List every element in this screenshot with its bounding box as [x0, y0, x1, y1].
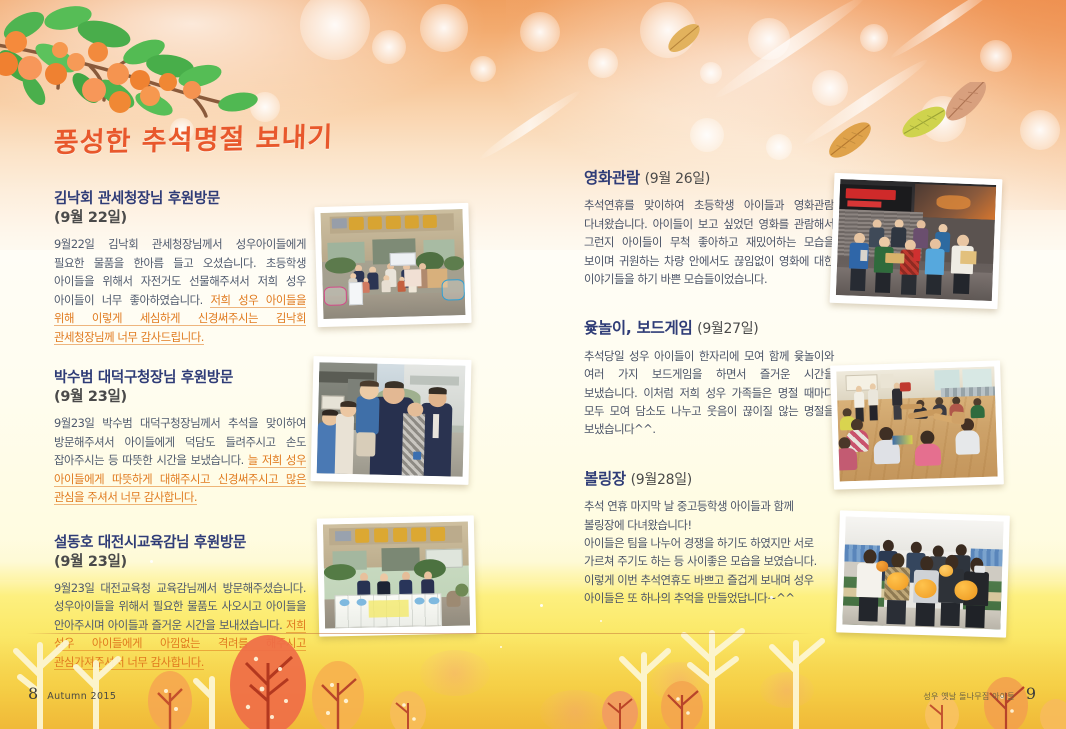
article-title: 볼링장 (9월28일)	[584, 469, 834, 490]
left-page-footer: 8 Autumn 2015	[28, 684, 116, 703]
photo-image	[836, 179, 996, 301]
article-title-text: 설동호 대전시교육감님 후원방문	[54, 535, 246, 551]
article-date: (9월 22일)	[54, 209, 306, 228]
article-title: 김낙회 관세청장님 후원방문 (9월 22일)	[54, 190, 306, 228]
sparkle	[540, 604, 543, 607]
photo-image	[323, 521, 470, 628]
article-body: 9월23일 박수범 대덕구청장님께서 추석을 맞이하여 방문해주셔서 아이들에게…	[54, 414, 306, 506]
page-title: 풍성한 추석명절 보내기	[53, 115, 334, 160]
article-title: 설동호 대전시교육감님 후원방문 (9월 23일)	[54, 534, 306, 572]
article-title: 윷놀이, 보드게임 (9월27일)	[584, 318, 834, 339]
footer-divider	[26, 633, 814, 634]
watercolor-blot	[540, 690, 610, 729]
page-number-right: 9	[1026, 684, 1036, 703]
article-body: 추석 연휴 마지막 날 중고등학생 아이들과 함께 볼링장에 다녀왔습니다! 아…	[584, 497, 834, 608]
photo-official-holding-child	[310, 356, 471, 485]
article-date: (9월 26일)	[645, 171, 710, 187]
left-article-column: 김낙회 관세청장님 후원방문 (9월 22일) 9월22일 김낙회 관세청장님께…	[54, 190, 306, 685]
article-date: (9월 23일)	[54, 553, 306, 572]
photo-image	[321, 209, 466, 319]
sparkle	[150, 560, 153, 563]
article-title-text: 영화관람	[584, 169, 640, 187]
article-kim-nak-hoe: 김낙회 관세청장님 후원방문 (9월 22일) 9월22일 김낙회 관세청장님께…	[54, 190, 306, 346]
right-article-column: 영화관람 (9월 26일) 추석연휴를 맞이하여 초등학생 아이들과 영화관람 …	[584, 168, 834, 622]
watercolor-blot	[760, 672, 814, 708]
watercolor-blot	[420, 650, 490, 696]
article-date: (9월 23일)	[54, 388, 306, 407]
article-park-soo-beom: 박수범 대덕구청장님 후원방문 (9월 23일) 9월23일 박수범 대덕구청장…	[54, 369, 306, 507]
article-yut-boardgame: 윷놀이, 보드게임 (9월27일) 추석당일 성우 아이들이 한자리에 모여 함…	[584, 318, 834, 438]
sparkle	[600, 620, 602, 622]
article-title-text: 윷놀이, 보드게임	[584, 319, 692, 337]
photo-image	[317, 362, 466, 477]
right-page-footer: 성우 옛날 돌나무집 아이들 9	[923, 684, 1036, 703]
photo-image	[842, 517, 1003, 630]
article-date: (9월27일)	[697, 321, 758, 337]
article-date: (9월28일)	[631, 472, 692, 488]
issue-label: Autumn 2015	[47, 691, 116, 702]
article-title: 박수범 대덕구청장님 후원방문 (9월 23일)	[54, 369, 306, 407]
article-seol-dong-ho: 설동호 대전시교육감님 후원방문 (9월 23일) 9월23일 대전교육청 교육…	[54, 534, 306, 672]
photo-teens-at-bowling-alley	[836, 510, 1010, 637]
watercolor-blot	[650, 662, 710, 702]
article-body: 추석당일 성우 아이들이 한자리에 모여 함께 윷놀이와 여러 가지 보드게임을…	[584, 347, 834, 439]
organization-label: 성우 옛날 돌나무집 아이들	[923, 691, 1014, 702]
article-body: 9월23일 대전교육청 교육감님께서 방문해주셨습니다. 성우아이들을 위해서 …	[54, 579, 306, 671]
sparkle	[500, 646, 502, 648]
article-body: 9월22일 김낙회 관세청장님께서 성우아이들에게 필요한 물품을 한아름 들고…	[54, 235, 306, 346]
photo-officials-with-supplies	[317, 515, 476, 636]
article-title: 영화관람 (9월 26일)	[584, 168, 834, 189]
photo-children-playing-yut	[830, 360, 1004, 489]
sparkle	[770, 596, 773, 599]
article-title-text: 볼링장	[584, 470, 626, 488]
article-title-text: 박수범 대덕구청장님 후원방문	[54, 370, 233, 386]
article-body-plain: 9월23일 대전교육청 교육감님께서 방문해주셨습니다. 성우아이들을 위해서 …	[54, 581, 306, 632]
article-bowling: 볼링장 (9월28일) 추석 연휴 마지막 날 중고등학생 아이들과 함께 볼링…	[584, 469, 834, 608]
page-number-left: 8	[28, 684, 38, 703]
photo-donation-group-bicycles	[314, 203, 471, 327]
article-movie-viewing: 영화관람 (9월 26일) 추석연휴를 맞이하여 초등학생 아이들과 영화관람 …	[584, 168, 834, 288]
article-body: 추석연휴를 맞이하여 초등학생 아이들과 영화관람 다녀왔습니다. 아이들이 보…	[584, 196, 834, 288]
photo-image	[836, 367, 997, 482]
magazine-spread: 풍성한 추석명절 보내기 김낙회 관세청장님 후원방문 (9월 22일) 9월2…	[0, 0, 1066, 729]
article-title-text: 김낙회 관세청장님 후원방문	[54, 191, 220, 207]
photo-children-at-cinema	[830, 173, 1003, 309]
